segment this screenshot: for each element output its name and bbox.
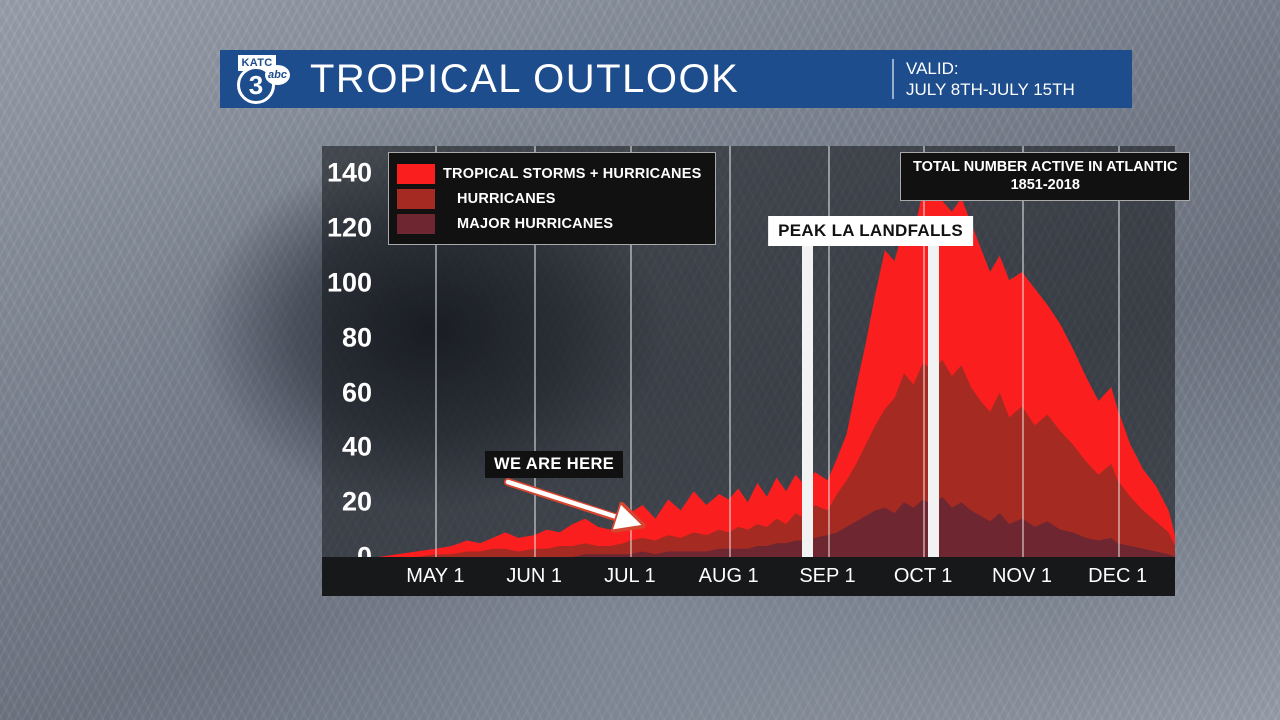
abc-affiliate-badge: abc: [265, 65, 290, 85]
bracket-right-leg: [928, 246, 939, 557]
katc-logo: KATC 3 abc: [232, 53, 294, 105]
bracket-left-leg: [802, 246, 813, 557]
y-axis-tick: 60: [342, 377, 372, 408]
x-axis-tick: JUL 1: [604, 565, 656, 588]
info-box-line-2: 1851-2018: [913, 176, 1177, 194]
legend-item: MAJOR HURRICANES: [397, 211, 701, 236]
y-axis-tick: 100: [327, 268, 372, 299]
legend-swatch-tropical-storms: [397, 164, 435, 184]
x-axis-tick: MAY 1: [406, 565, 464, 588]
title-bar: KATC 3 abc TROPICAL OUTLOOK VALID: JULY …: [220, 50, 1132, 108]
y-axis-tick: 20: [342, 487, 372, 518]
legend-item: TROPICAL STORMS + HURRICANES: [397, 161, 701, 186]
chart-legend: TROPICAL STORMS + HURRICANES HURRICANES …: [388, 152, 716, 245]
x-axis-tick: JUN 1: [506, 565, 562, 588]
we-are-here-callout: WE ARE HERE: [485, 451, 623, 478]
info-box-line-1: TOTAL NUMBER ACTIVE IN ATLANTIC: [913, 158, 1177, 176]
x-axis-tick: AUG 1: [699, 565, 759, 588]
x-axis-tick: OCT 1: [894, 565, 953, 588]
legend-swatch-major-hurricanes: [397, 214, 435, 234]
legend-label-tropical-storms: TROPICAL STORMS + HURRICANES: [443, 166, 701, 182]
y-axis-tick: 40: [342, 432, 372, 463]
y-axis-tick: 140: [327, 158, 372, 189]
x-axis-tick: DEC 1: [1088, 565, 1147, 588]
grid-line: [729, 146, 731, 557]
grid-line: [828, 146, 830, 557]
legend-swatch-hurricanes: [397, 189, 435, 209]
legend-label-hurricanes: HURRICANES: [457, 191, 556, 207]
grid-line: [923, 146, 925, 557]
x-axis-tick: SEP 1: [799, 565, 855, 588]
y-axis: 020406080100120140: [322, 146, 378, 557]
grid-line: [1022, 146, 1024, 557]
x-axis-tick: NOV 1: [992, 565, 1052, 588]
y-axis-tick: 80: [342, 322, 372, 353]
peak-landfalls-label: PEAK LA LANDFALLS: [768, 216, 973, 246]
chart-panel: 020406080100120140 TROPICAL STORMS + HUR…: [322, 146, 1175, 596]
page-title: TROPICAL OUTLOOK: [310, 57, 739, 102]
grid-line: [1118, 146, 1120, 557]
valid-label: VALID:: [906, 58, 1132, 79]
legend-item: HURRICANES: [397, 186, 701, 211]
valid-range: JULY 8TH-JULY 15TH: [906, 79, 1132, 100]
we-are-here-arrow-icon: [502, 476, 662, 536]
y-axis-tick: 120: [327, 213, 372, 244]
legend-label-major-hurricanes: MAJOR HURRICANES: [457, 216, 613, 232]
valid-period: VALID: JULY 8TH-JULY 15TH: [894, 58, 1132, 100]
chart-info-box: TOTAL NUMBER ACTIVE IN ATLANTIC 1851-201…: [900, 152, 1190, 201]
broadcast-graphic: KATC 3 abc TROPICAL OUTLOOK VALID: JULY …: [0, 0, 1280, 720]
x-axis: MAY 1JUN 1JUL 1AUG 1SEP 1OCT 1NOV 1DEC 1: [322, 557, 1175, 596]
